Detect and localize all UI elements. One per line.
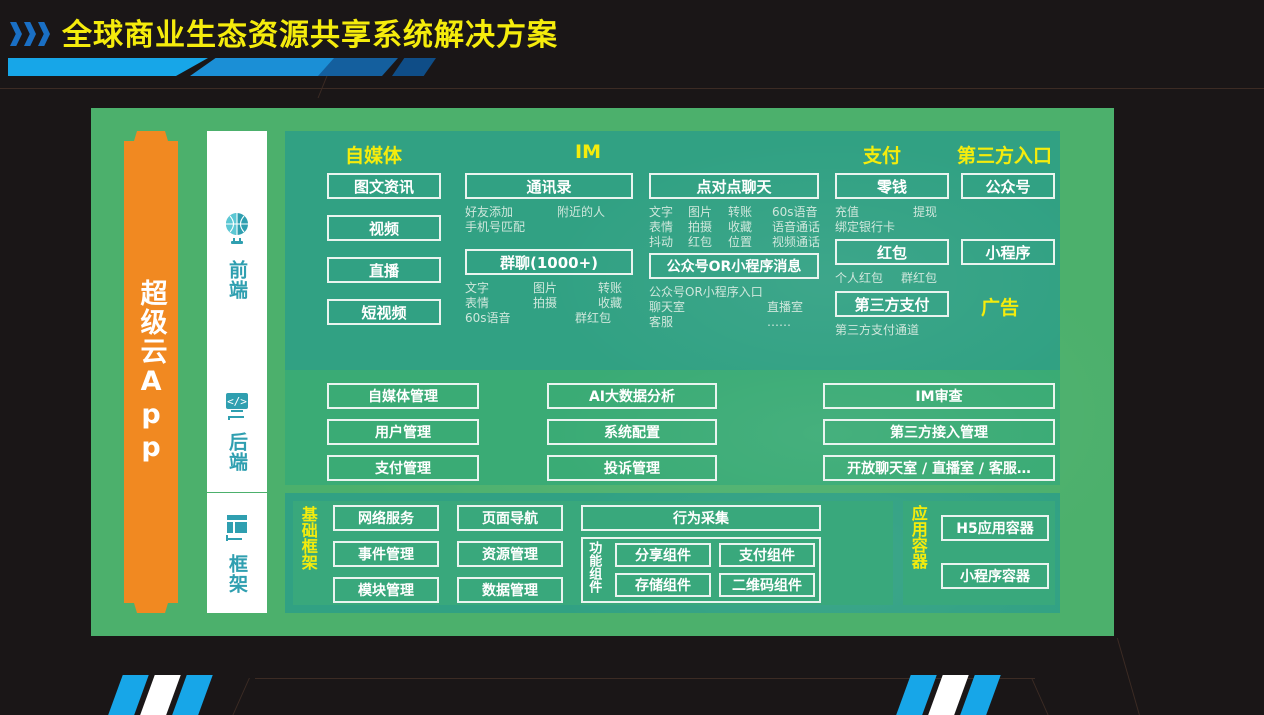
p2p-tags-row1: 文字图片转账60s语音 — [649, 205, 818, 220]
contacts-tags-row1: 好友添加附近的人 — [465, 205, 635, 220]
p2p-tags-row2: 表情拍摄收藏语音通话 — [649, 220, 820, 235]
framework-component-1[interactable]: 支付组件 — [719, 543, 815, 567]
framework-container-label: 应用容器 — [909, 505, 926, 601]
p2p-tags-row3: 抖动红包位置视频通话 — [649, 235, 820, 250]
framework-component-label: 功能组件 — [587, 541, 600, 599]
app-tab-label: 超级云App — [133, 279, 168, 465]
layout-grid-icon — [222, 513, 252, 548]
code-monitor-icon: </> — [222, 391, 252, 426]
framework-box-behavior[interactable]: 行为采集 — [581, 505, 821, 531]
header-divider — [0, 88, 1264, 89]
backend-box-c2-0[interactable]: AI大数据分析 — [547, 383, 717, 409]
header-divider-diagonal — [318, 76, 328, 98]
layer-tab-frontend-label: 前端 — [226, 260, 248, 300]
frontend-box-self-media-1[interactable]: 视频 — [327, 215, 441, 241]
slide-header: 全球商业生态资源共享系统解决方案 — [0, 0, 1264, 96]
group-tags-row1: 文字图片转账 — [465, 281, 622, 296]
framework-section: 基础框架 网络服务 事件管理 模块管理 页面导航 资源管理 数据管理 行为采集 … — [285, 493, 1060, 613]
wallet-tags-row2: 绑定银行卡 — [835, 220, 895, 235]
frontend-box-official-account[interactable]: 公众号 — [961, 173, 1055, 199]
framework-container-1[interactable]: 小程序容器 — [941, 563, 1049, 589]
framework-box-c1-0[interactable]: 网络服务 — [333, 505, 439, 531]
framework-box-c2-2[interactable]: 数据管理 — [457, 577, 563, 603]
backend-box-c2-2[interactable]: 投诉管理 — [547, 455, 717, 481]
frontend-box-red-packet[interactable]: 红包 — [835, 239, 949, 265]
framework-box-c1-2[interactable]: 模块管理 — [333, 577, 439, 603]
backend-box-c3-0[interactable]: IM审查 — [823, 383, 1055, 409]
column-title-payment: 支付 — [863, 141, 901, 168]
header-accent-bar-1 — [8, 58, 208, 76]
framework-component-0[interactable]: 分享组件 — [615, 543, 711, 567]
group-tags-row2: 表情拍摄收藏 — [465, 296, 622, 311]
backend-box-c1-2[interactable]: 支付管理 — [327, 455, 479, 481]
oa-tags-row1: 公众号OR小程序入口 — [649, 285, 763, 300]
wallet-tags-row1: 充值提现 — [835, 205, 937, 220]
backend-box-c3-2[interactable]: 开放聊天室 / 直播室 / 客服… — [823, 455, 1055, 481]
frontend-box-contacts[interactable]: 通讯录 — [465, 173, 633, 199]
frontend-label-ad: 广告 — [981, 293, 1019, 320]
frontend-box-p2p-chat[interactable]: 点对点聊天 — [649, 173, 819, 199]
layer-tab-backend[interactable]: </> 后端 — [207, 370, 267, 492]
column-title-self-media: 自媒体 — [345, 141, 402, 168]
red-packet-tags: 个人红包群红包 — [835, 271, 937, 286]
footer-line-left — [231, 678, 250, 715]
oa-tags-row2: 聊天室直播室 — [649, 300, 803, 315]
framework-component-2[interactable]: 存储组件 — [615, 573, 711, 597]
column-title-third-party: 第三方入口 — [957, 141, 1052, 168]
frontend-box-self-media-2[interactable]: 直播 — [327, 257, 441, 283]
layer-tab-framework[interactable]: 框架 — [207, 493, 267, 613]
group-tags-row3: 60s语音群红包 — [465, 311, 611, 326]
super-cloud-app-tab[interactable]: 超级云App — [124, 131, 178, 613]
architecture-board: 超级云App 前端 </> — [91, 108, 1114, 636]
framework-container-0[interactable]: H5应用容器 — [941, 515, 1049, 541]
svg-text:</>: </> — [227, 395, 247, 408]
slide-root: 全球商业生态资源共享系统解决方案 超级云App — [0, 0, 1264, 715]
backend-box-c3-1[interactable]: 第三方接入管理 — [823, 419, 1055, 445]
backend-box-c1-0[interactable]: 自媒体管理 — [327, 383, 479, 409]
frontend-section: 自媒体 IM 支付 第三方入口 图文资讯 视频 直播 短视频 通讯录 好友添加附… — [285, 131, 1060, 379]
frontend-box-self-media-0[interactable]: 图文资讯 — [327, 173, 441, 199]
page-title: 全球商业生态资源共享系统解决方案 — [62, 10, 558, 54]
backend-box-c2-1[interactable]: 系统配置 — [547, 419, 717, 445]
frontend-box-third-party-pay[interactable]: 第三方支付 — [835, 291, 949, 317]
footer-line-right — [1031, 678, 1050, 715]
frontend-box-wallet[interactable]: 零钱 — [835, 173, 949, 199]
frontend-box-self-media-3[interactable]: 短视频 — [327, 299, 441, 325]
framework-box-c2-1[interactable]: 资源管理 — [457, 541, 563, 567]
backend-section: 自媒体管理 用户管理 支付管理 AI大数据分析 系统配置 投诉管理 IM审查 第… — [285, 370, 1060, 485]
layer-tab-backend-label: 后端 — [226, 432, 248, 472]
header-accent-bar-4 — [392, 58, 436, 76]
footer-line-diagonal — [1117, 638, 1140, 715]
framework-component-3[interactable]: 二维码组件 — [719, 573, 815, 597]
globe-monitor-icon — [222, 211, 252, 254]
layer-tab-framework-label: 框架 — [226, 554, 248, 594]
third-party-pay-tags: 第三方支付通道 — [835, 323, 919, 338]
contacts-tags-row2: 手机号匹配 — [465, 220, 525, 235]
column-title-im: IM — [575, 141, 601, 163]
double-chevron-right-icon — [10, 22, 50, 46]
oa-tags-row3: 客服…… — [649, 315, 791, 330]
frontend-box-mini-program[interactable]: 小程序 — [961, 239, 1055, 265]
frontend-box-oa-miniprogram-msg[interactable]: 公众号OR小程序消息 — [649, 253, 819, 279]
layer-tab-frontend[interactable]: 前端 — [207, 131, 267, 379]
framework-box-c2-0[interactable]: 页面导航 — [457, 505, 563, 531]
backend-box-c1-1[interactable]: 用户管理 — [327, 419, 479, 445]
framework-base-label: 基础框架 — [299, 506, 316, 600]
framework-box-c1-1[interactable]: 事件管理 — [333, 541, 439, 567]
frontend-box-group-chat[interactable]: 群聊(1000+) — [465, 249, 633, 275]
